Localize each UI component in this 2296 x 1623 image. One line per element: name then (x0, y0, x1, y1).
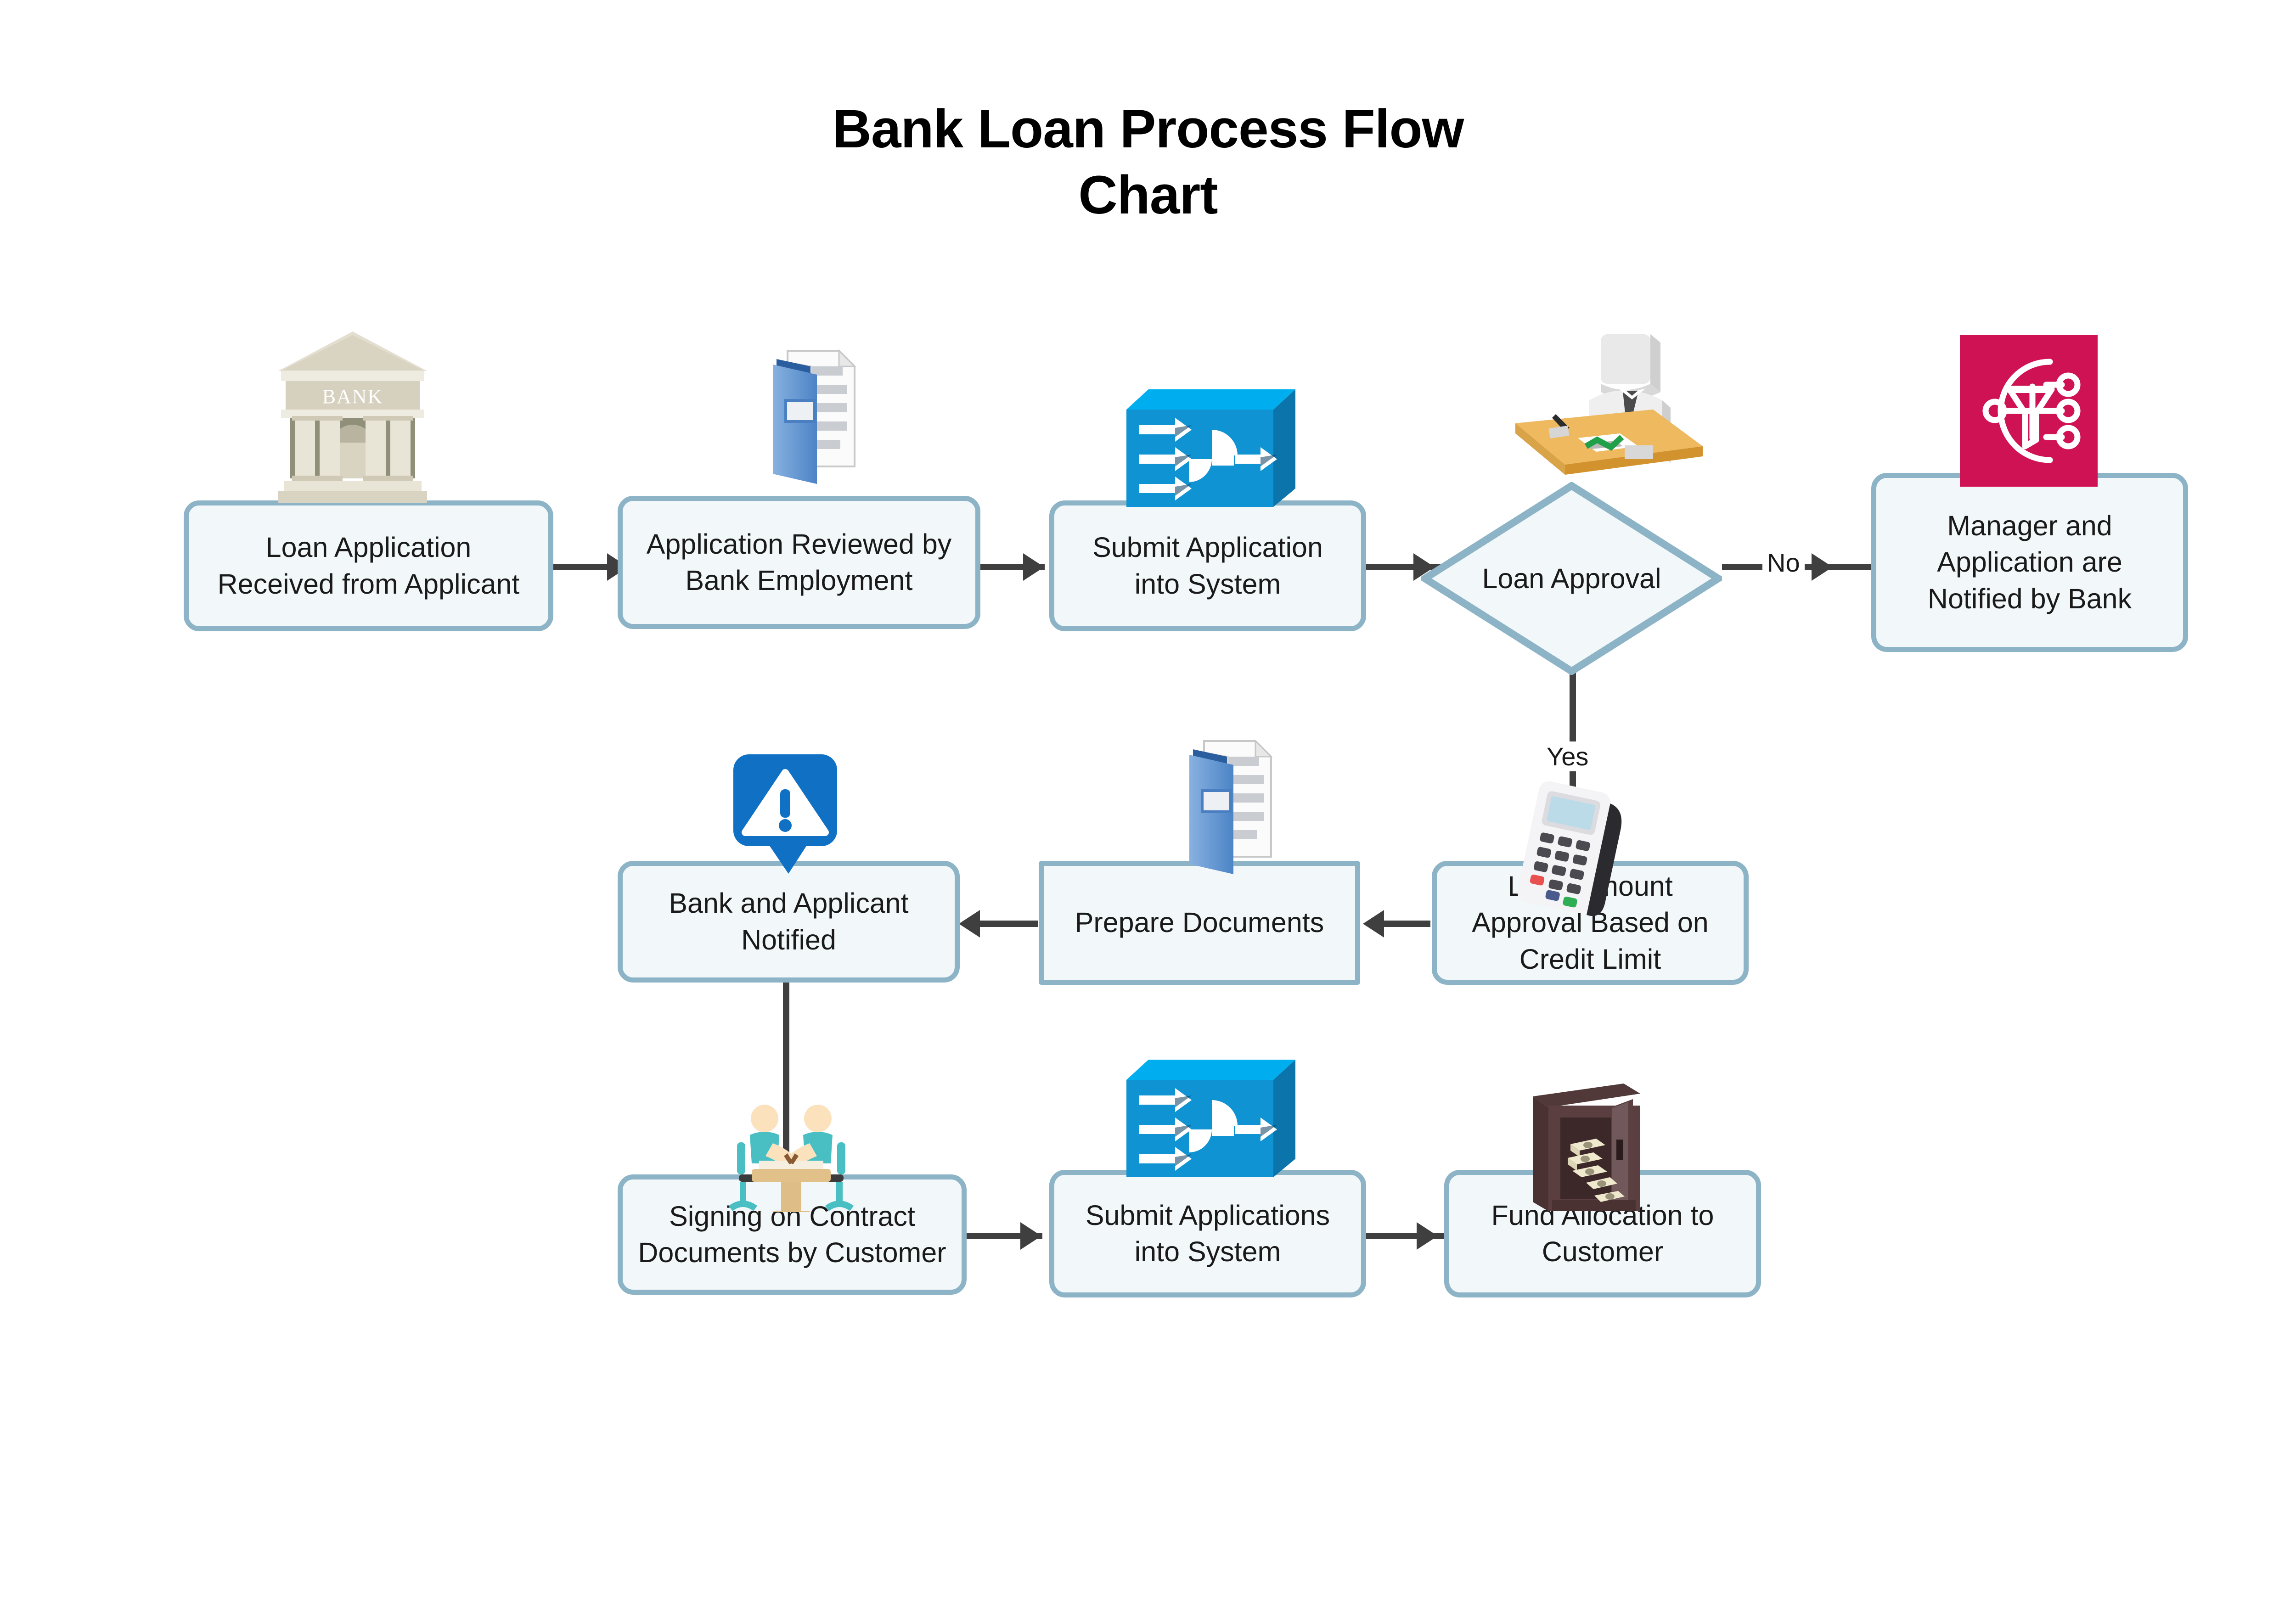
bank-building-icon: BANK (275, 329, 431, 508)
title-line-1: Bank Loan Process Flow (0, 96, 2296, 163)
bank-sign-label: BANK (322, 385, 383, 408)
node-label: Submit Applications into System (1086, 1197, 1330, 1270)
flowchart-canvas: Bank Loan Process Flow Chart No Yes Loan… (0, 0, 2296, 1623)
funnel-network-icon (1960, 335, 2098, 487)
system-process-cube-icon (1122, 1056, 1300, 1181)
node-label: Prepare Documents (1075, 904, 1324, 941)
safe-money-icon (1525, 1075, 1667, 1222)
node-manager-notified[interactable]: Manager and Application are Notified by … (1871, 473, 2188, 652)
meeting-table-icon (723, 1102, 859, 1212)
page-title: Bank Loan Process Flow Chart (0, 96, 2296, 229)
node-loan-approval[interactable]: Loan Approval (1421, 482, 1722, 675)
manager-desk-approval-icon (1487, 331, 1716, 511)
node-label: Application Reviewed by Bank Employment (647, 526, 952, 599)
edge-2-arrowhead (1023, 553, 1044, 581)
system-process-cube-icon (1122, 386, 1300, 511)
edge-9-arrowhead (1417, 1222, 1438, 1250)
edge-no-arrowhead (1812, 553, 1833, 581)
edge-8-arrowhead (1020, 1222, 1041, 1250)
node-label: Submit Application into System (1092, 529, 1323, 602)
node-label: Bank and Applicant Notified (669, 885, 908, 958)
node-label: Manager and Application are Notified by … (1928, 508, 2132, 617)
node-label: Loan Application Received from Applicant (218, 529, 520, 602)
node-label: Loan Approval (1421, 482, 1722, 675)
edge-label-no: No (1762, 548, 1805, 578)
node-submit-application[interactable]: Submit Application into System (1049, 500, 1366, 631)
title-line-2: Chart (0, 163, 2296, 229)
edge-6-arrowhead (959, 910, 980, 938)
document-binder-icon (728, 341, 866, 506)
document-binder-icon (1144, 731, 1282, 896)
card-terminal-icon (1507, 781, 1640, 927)
edge-5-arrowhead (1363, 910, 1384, 938)
edge-label-yes: Yes (1542, 741, 1593, 771)
node-application-reviewed[interactable]: Application Reviewed by Bank Employment (618, 496, 980, 629)
alert-bubble-icon (728, 751, 843, 879)
node-loan-application-received[interactable]: Loan Application Received from Applicant (184, 500, 553, 631)
node-submit-applications[interactable]: Submit Applications into System (1049, 1170, 1366, 1297)
